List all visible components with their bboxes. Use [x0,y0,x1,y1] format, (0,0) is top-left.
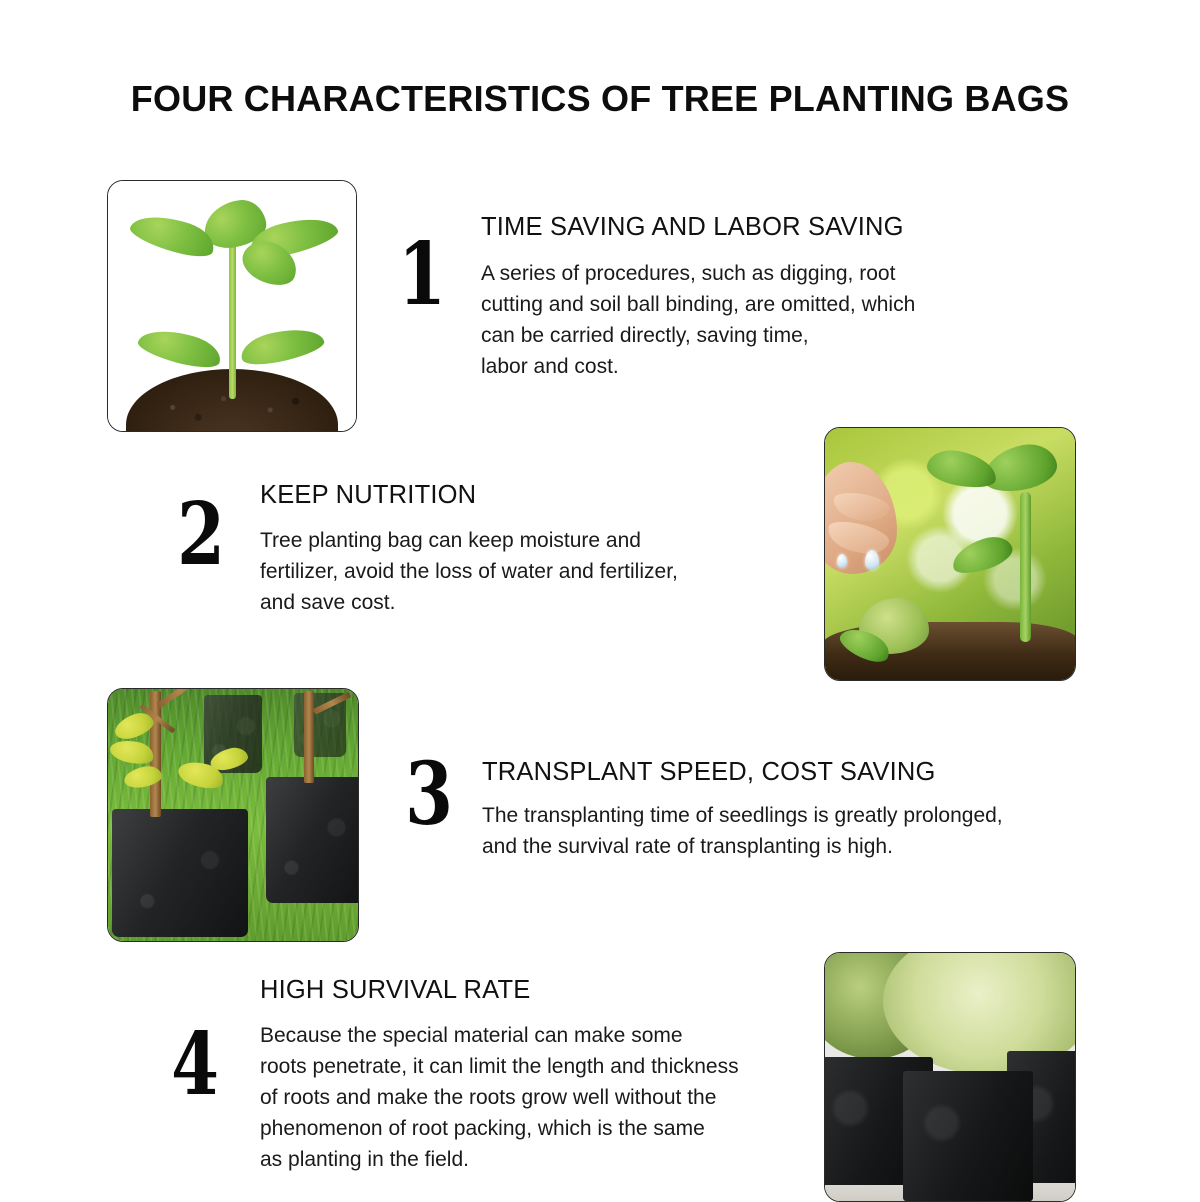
section-4-heading: HIGH SURVIVAL RATE [260,976,530,1005]
section-2-image-hand-watering-sprout [824,427,1076,681]
section-4-body-line: Because the special material can make so… [260,1020,739,1051]
leaf-upper-left [127,206,219,263]
section-1-image-seedling-in-soil [107,180,357,432]
grow-bag-front [903,1071,1033,1201]
section-1-numeral: 1 [398,232,446,318]
section-2-body-line: fertilizer, avoid the loss of water and … [260,556,678,587]
watering-scene [825,428,1075,680]
page-title: FOUR CHARACTERISTICS OF TREE PLANTING BA… [0,78,1200,120]
grow-bag-right [266,777,359,903]
grass-scene [108,689,358,941]
leaf-lower-left [135,322,224,374]
sprout-leaf-top-left [925,446,1000,492]
section-1-heading: TIME SAVING AND LABOR SAVING [481,213,904,242]
section-4-body-line: phenomenon of root packing, which is the… [260,1113,739,1144]
tree-trunk-right [304,691,314,783]
tree-branch-left-a [156,688,204,708]
section-3-numeral: 3 [404,752,454,838]
section-3-heading: TRANSPLANT SPEED, COST SAVING [482,758,936,787]
section-3-body: The transplanting time of seedlings is g… [482,800,1003,862]
section-2-numeral: 2 [173,492,229,578]
section-1-body-line: A series of procedures, such as digging,… [481,258,915,289]
water-drop-large [865,550,879,570]
section-4-image-grow-bags-with-foliage [824,952,1076,1202]
sprout-stem [1020,492,1031,642]
grow-bag-left [112,809,248,937]
section-3-body-line: and the survival rate of transplanting i… [482,831,1003,862]
plant-stem [229,223,236,399]
section-1-body-line: cutting and soil ball binding, are omitt… [481,289,915,320]
sprout-cotyledon [948,531,1016,579]
section-3-body-line: The transplanting time of seedlings is g… [482,800,1003,831]
section-2-body-line: Tree planting bag can keep moisture and [260,525,678,556]
section-2-heading: KEEP NUTRITION [260,481,476,510]
leaf-lower-right [238,321,327,370]
water-drop-small [837,554,847,568]
section-4-body-line: as planting in the field. [260,1144,739,1175]
section-3-image-grow-bags-on-grass [107,688,359,942]
section-2-body-line: and save cost. [260,587,678,618]
foliage-scene [825,953,1075,1201]
yellow-leaf-b [108,737,156,768]
section-1-body-line: can be carried directly, saving time, [481,320,915,351]
section-4-body-line: of roots and make the roots grow well wi… [260,1082,739,1113]
section-1-body-line: labor and cost. [481,351,915,382]
section-4-body-line: roots penetrate, it can limit the length… [260,1051,739,1082]
section-4-numeral: 4 [167,1022,223,1108]
section-2-body: Tree planting bag can keep moisture and … [260,525,678,618]
section-4-body: Because the special material can make so… [260,1020,739,1175]
seedling-scene [108,181,356,431]
section-1-body: A series of procedures, such as digging,… [481,258,915,382]
